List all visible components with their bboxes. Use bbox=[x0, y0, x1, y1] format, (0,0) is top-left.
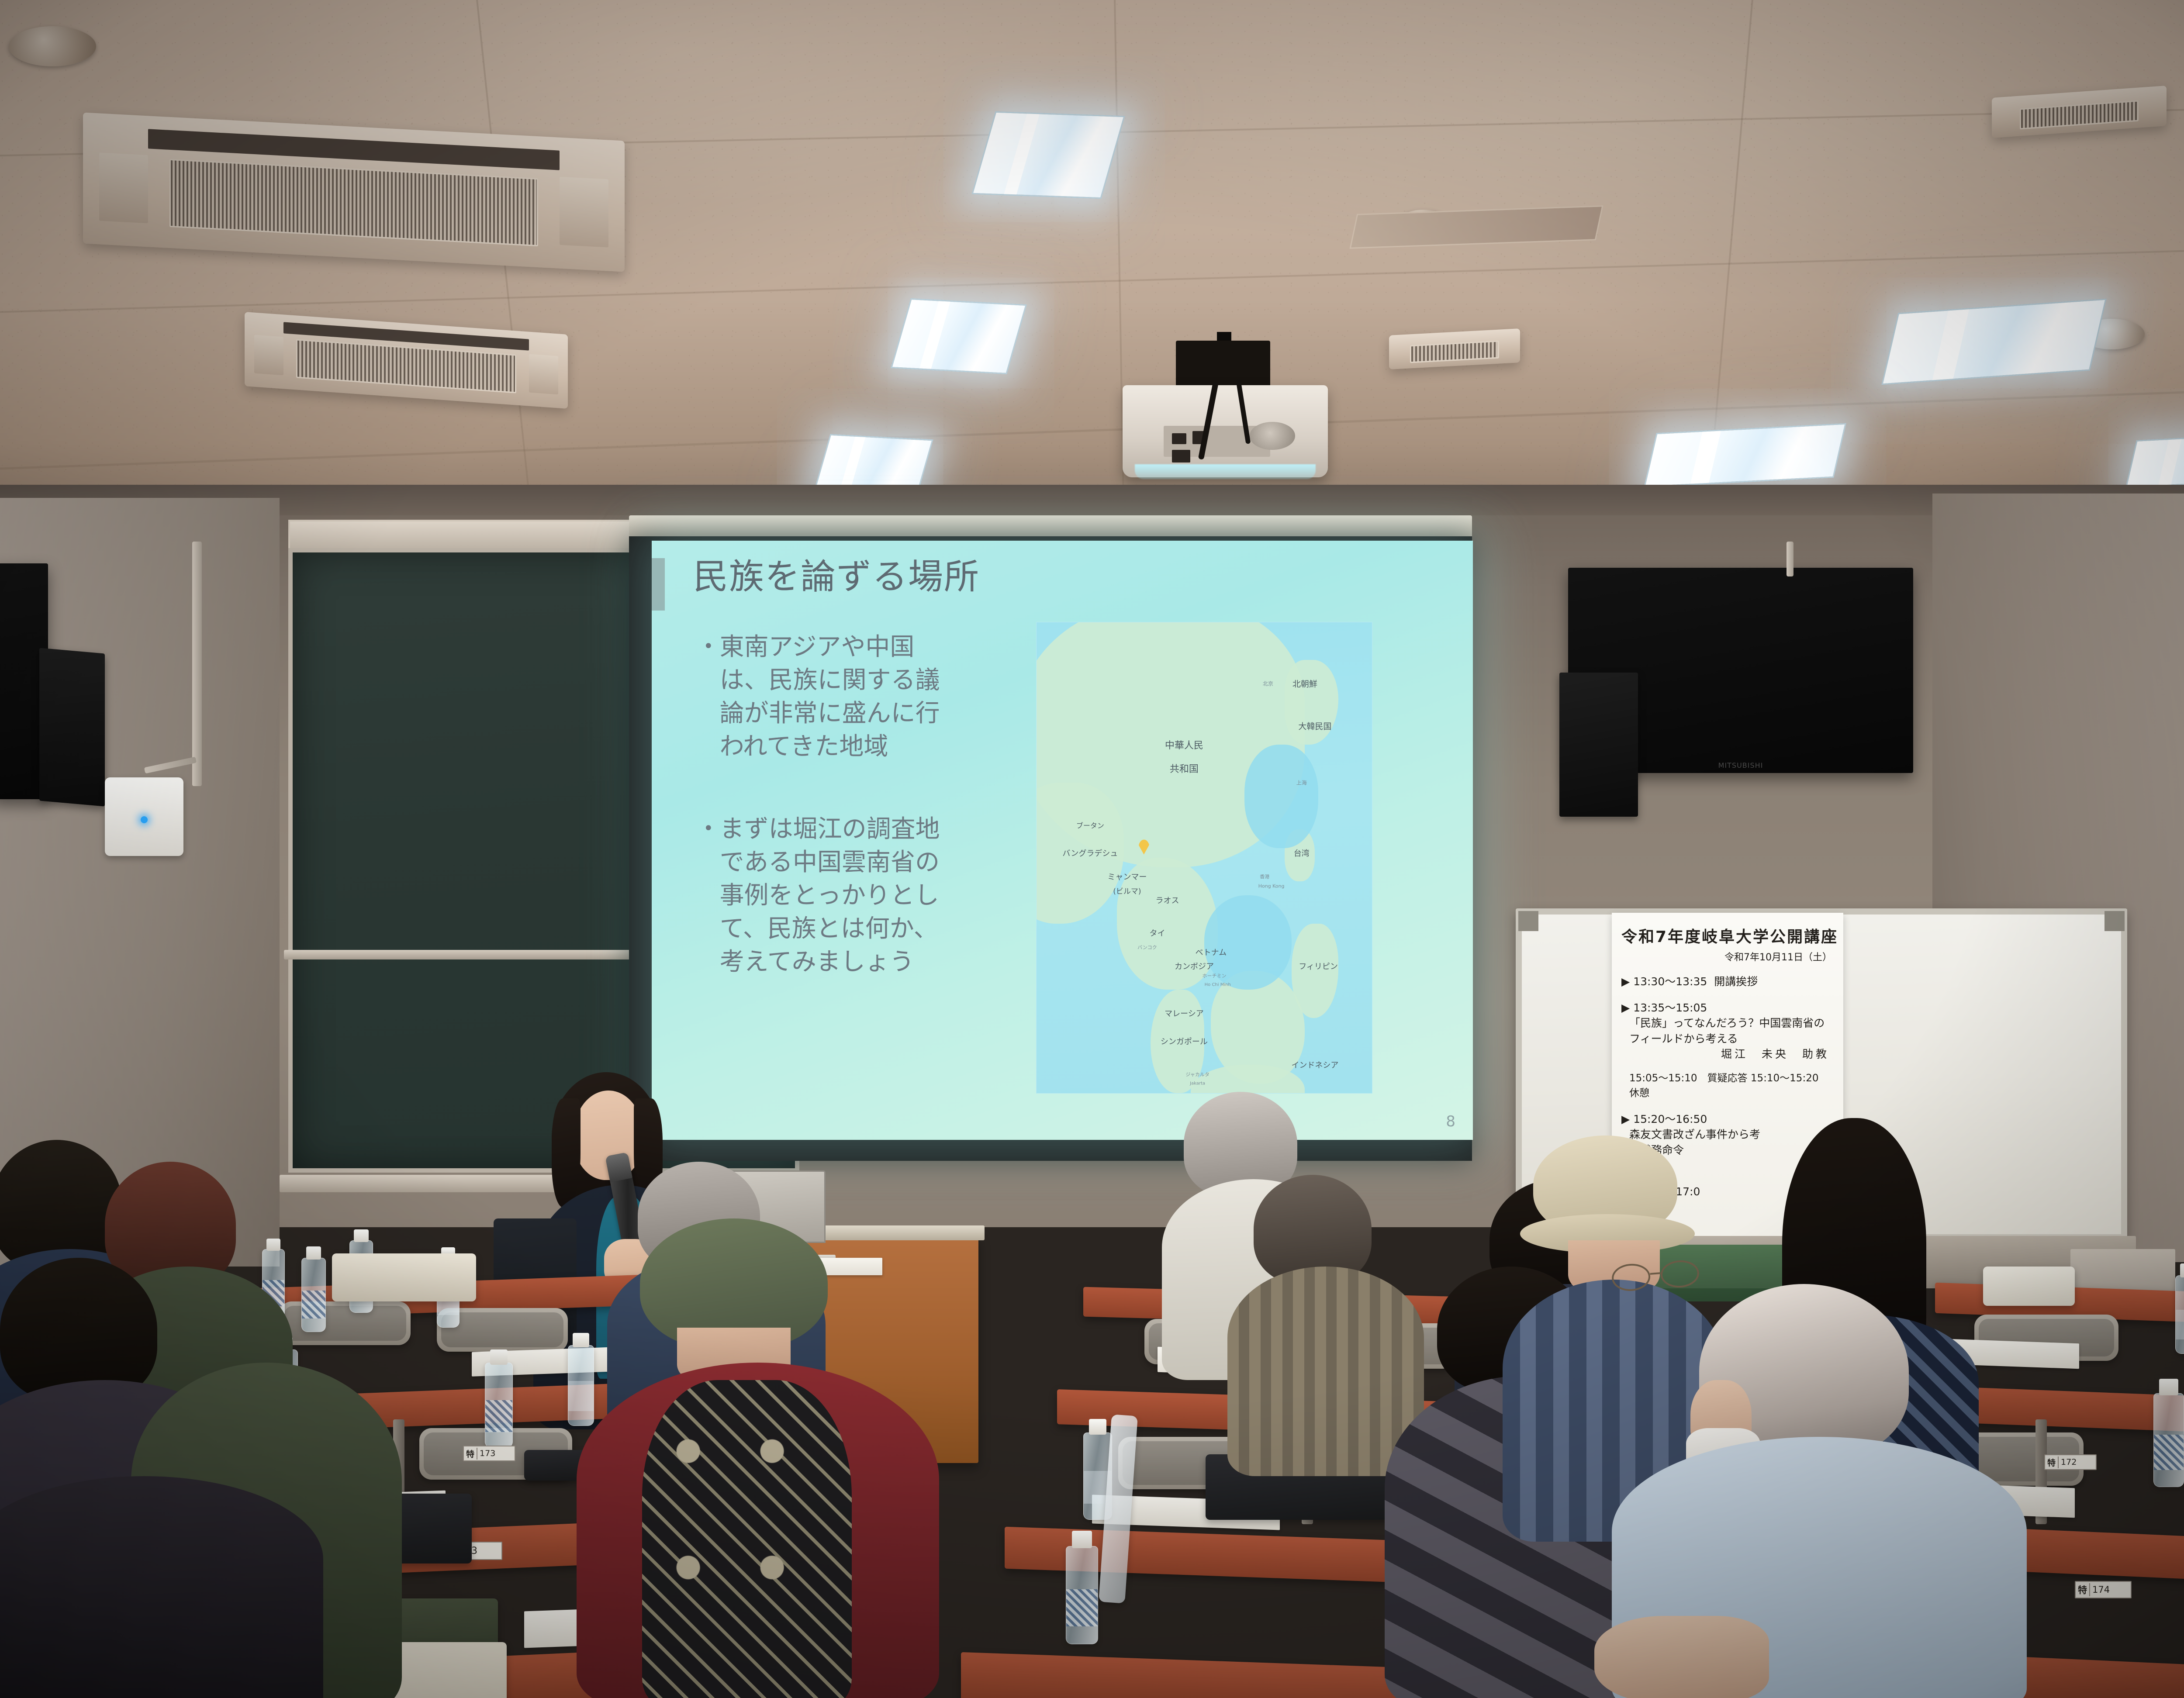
map-label: Ho Chi Minh bbox=[1205, 983, 1231, 987]
ac-grille bbox=[296, 339, 516, 393]
slide-bullet-text: 東南アジアや中国は、民族に関する議論が非常に盛んに行われてきた地域 bbox=[720, 631, 948, 764]
slide-bullet-text: まずは堀江の調査地である中国雲南省の事例をとっかりとして、民族とは何か、考えてみ… bbox=[720, 813, 948, 979]
bottle-label bbox=[485, 1400, 512, 1432]
bullet-marker-icon: • bbox=[703, 813, 714, 979]
bottle-cap bbox=[354, 1229, 368, 1242]
bottle-cap bbox=[2180, 1263, 2184, 1277]
poster-item-time: 15:20〜16:50 bbox=[1633, 1113, 1707, 1125]
map-label: 中華人民 bbox=[1165, 738, 1203, 752]
seat-tag-kanji: 特 bbox=[2076, 1583, 2090, 1596]
projector-light-glow bbox=[1135, 464, 1316, 479]
slide-bullet-item: • 東南アジアや中国は、民族に関する議論が非常に盛んに行われてきた地域 bbox=[703, 631, 948, 764]
slide-title-accent-bar bbox=[652, 558, 665, 611]
map-label: カンボジア bbox=[1175, 960, 1214, 972]
presentation-slide: 民族を論ずる場所 • 東南アジアや中国は、民族に関する議論が非常に盛んに行われて… bbox=[652, 541, 1473, 1140]
ac-grille bbox=[1410, 341, 1499, 363]
lecture-room-photo: 民族を論ずる場所 • 東南アジアや中国は、民族に関する議論が非常に盛んに行われて… bbox=[0, 0, 2184, 1698]
slide-bullet-list: • 東南アジアや中国は、民族に関する議論が非常に盛んに行われてきた地域 • まず… bbox=[703, 631, 948, 1028]
ceiling-light bbox=[971, 111, 1125, 199]
person-plaid-shirt bbox=[1227, 1267, 1424, 1476]
eyeglasses-lens bbox=[1611, 1263, 1651, 1292]
seat-tag: 特 173 bbox=[463, 1446, 515, 1461]
projector-mount-bracket bbox=[1176, 341, 1270, 391]
audience-member-foreground bbox=[1651, 1284, 1983, 1698]
wifi-access-point bbox=[105, 777, 183, 856]
map-label: 北朝鮮 bbox=[1292, 678, 1317, 690]
person-hand bbox=[1594, 1616, 1769, 1698]
map-location-pin-icon bbox=[1138, 840, 1150, 855]
poster-plain-lines: 15:05〜15:10 質疑応答 15:10〜15:20 休憩 bbox=[1621, 1071, 1834, 1101]
wall-soffit bbox=[0, 485, 2184, 515]
tv-brand-label: MITSUBISHI bbox=[1718, 761, 1763, 770]
bullet-marker-icon: • bbox=[703, 631, 714, 764]
map-label: (ビルマ) bbox=[1113, 885, 1141, 896]
audience-member-foreground bbox=[0, 1476, 297, 1698]
map-label: バンコク bbox=[1137, 944, 1157, 951]
poster-item-marker-icon: ▶ bbox=[1621, 975, 1630, 988]
projector-lens bbox=[1250, 422, 1295, 449]
bottle-label bbox=[1066, 1589, 1098, 1626]
map-label: ベトナム bbox=[1196, 946, 1227, 958]
map-label: Hong Kong bbox=[1258, 883, 1285, 889]
map-label: ブータン bbox=[1076, 820, 1104, 830]
bottle-cap bbox=[1089, 1419, 1107, 1435]
water-bottle[interactable] bbox=[568, 1345, 594, 1426]
bottle-label bbox=[2154, 1435, 2184, 1470]
map-label: Jakarta bbox=[1190, 1081, 1205, 1086]
bottle-cap bbox=[1072, 1531, 1092, 1548]
landmass-korea bbox=[1285, 660, 1338, 745]
map-label: ミャンマー bbox=[1107, 871, 1147, 882]
poster-item-marker-icon: ▶ bbox=[1621, 1113, 1630, 1125]
ceiling bbox=[0, 0, 2184, 515]
ceiling-ac-unit bbox=[1389, 328, 1520, 369]
poster-schedule-item: ▶ 13:35〜15:05 「民族」ってなんだろう？中国雲南省の フィールドから… bbox=[1621, 1000, 1834, 1062]
poster-item-label: 「民族」ってなんだろう？中国雲南省の bbox=[1621, 1015, 1834, 1031]
bottle-cap bbox=[306, 1246, 321, 1260]
seat-tag: 特 174 bbox=[2075, 1581, 2132, 1598]
map-label: バングラデシュ bbox=[1062, 847, 1118, 859]
wall-conduit bbox=[1787, 542, 1794, 576]
map-label: インドネシア bbox=[1291, 1059, 1338, 1070]
projector-port bbox=[1172, 433, 1186, 444]
poster-item-label: フィールドから考える bbox=[1621, 1031, 1834, 1047]
ac-grille bbox=[2020, 100, 2139, 130]
bottle-cap bbox=[2159, 1379, 2178, 1395]
map-label: 北京 bbox=[1263, 680, 1273, 687]
water-bottle[interactable] bbox=[2175, 1275, 2184, 1354]
seat-tag-number: 173 bbox=[477, 1449, 515, 1458]
map-label: 香港 bbox=[1260, 873, 1269, 880]
map-label: シンガポール bbox=[1161, 1035, 1208, 1047]
slide-title: 民族を論ずる場所 bbox=[693, 556, 980, 597]
ac-side-vent bbox=[254, 335, 283, 376]
poster-schedule-item: ▶ 13:30〜13:35 開講挨拶 bbox=[1621, 974, 1834, 990]
seat-tag: 特 172 bbox=[2044, 1454, 2097, 1470]
map-label: フィリピン bbox=[1299, 960, 1338, 972]
water-east-china-sea bbox=[1244, 745, 1318, 848]
ceiling-light bbox=[891, 298, 1027, 374]
poster-item-speaker: 堀江 未央 助教 bbox=[1621, 1046, 1834, 1062]
map-label: 上海 bbox=[1296, 779, 1307, 786]
poster-item-marker-icon: ▶ bbox=[1621, 1001, 1630, 1014]
projector-body bbox=[1123, 385, 1328, 477]
ac-side-vent bbox=[529, 354, 558, 395]
seat-tag-number: 174 bbox=[2090, 1584, 2131, 1595]
poster-item-time: 13:35〜15:05 bbox=[1633, 1001, 1707, 1014]
water-bottle[interactable] bbox=[2153, 1393, 2184, 1487]
audience-member bbox=[1236, 1175, 1406, 1463]
whiteboard-corner-bracket bbox=[2105, 911, 2125, 931]
poster-date: 令和7年10月11日（土） bbox=[1621, 949, 1832, 963]
ceiling-light bbox=[1644, 423, 1846, 488]
water-bottle[interactable] bbox=[1066, 1546, 1098, 1644]
projection-screen-case bbox=[629, 515, 1472, 538]
map-label: タイ bbox=[1149, 927, 1165, 939]
chalk-rail bbox=[284, 950, 651, 959]
seat-tag-kanji: 特 bbox=[2045, 1456, 2059, 1468]
slide-page-number: 8 bbox=[1446, 1113, 1455, 1130]
map-label: ラオス bbox=[1156, 894, 1179, 906]
map-label: 台湾 bbox=[1294, 847, 1310, 859]
presenter-hair-side bbox=[552, 1098, 581, 1208]
map-label: ホーチミン bbox=[1203, 972, 1227, 979]
slide-bullet-item: • まずは堀江の調査地である中国雲南省の事例をとっかりとして、民族とは何か、考え… bbox=[703, 813, 948, 979]
ceiling-projector bbox=[1123, 341, 1328, 489]
wall-speaker-right bbox=[1559, 673, 1638, 817]
poster-title: 令和7年度岐阜大学公開講座 bbox=[1621, 924, 1834, 947]
projector-port bbox=[1172, 450, 1190, 463]
map-label: ジャカルタ bbox=[1185, 1071, 1209, 1078]
map-label: マレーシア bbox=[1165, 1008, 1204, 1019]
map-label: 共和国 bbox=[1170, 761, 1199, 775]
slide-map-image: 北朝鮮大韓民国中華人民共和国北京上海ブータンバングラデシュミャンマー(ビルマ)ラ… bbox=[1036, 622, 1372, 1094]
seat-tag-kanji: 特 bbox=[464, 1448, 477, 1460]
poster-plain-line: 15:05〜15:10 質疑応答 bbox=[1629, 1073, 1748, 1084]
ac-side-vent bbox=[560, 177, 608, 248]
person-jacket bbox=[0, 1476, 323, 1698]
water-bottle[interactable] bbox=[485, 1363, 513, 1448]
ac-side-vent bbox=[99, 152, 148, 223]
audience-member-beret bbox=[607, 1218, 926, 1698]
whiteboard-corner-bracket bbox=[1518, 911, 1538, 931]
poster-item-label: 開講挨拶 bbox=[1714, 975, 1758, 988]
white-case bbox=[1983, 1267, 2075, 1306]
wall-speaker-left bbox=[39, 648, 105, 806]
bottle-label bbox=[568, 1381, 594, 1412]
poster-item-time: 13:30〜13:35 bbox=[1633, 975, 1707, 988]
bottle-cap bbox=[490, 1349, 508, 1365]
wall-conduit bbox=[192, 542, 202, 786]
map-label: 大韓民国 bbox=[1298, 720, 1331, 732]
status-led-icon bbox=[141, 816, 148, 823]
patterned-vest bbox=[642, 1380, 852, 1698]
blackboard-valance bbox=[288, 520, 646, 550]
bottle-cap bbox=[573, 1333, 589, 1347]
smoke-detector-icon bbox=[9, 26, 96, 66]
ac-grille bbox=[169, 159, 538, 246]
eyeglasses-bridge bbox=[1650, 1272, 1661, 1275]
seat-tag-number: 172 bbox=[2059, 1457, 2096, 1467]
bottle-label bbox=[2176, 1310, 2184, 1339]
